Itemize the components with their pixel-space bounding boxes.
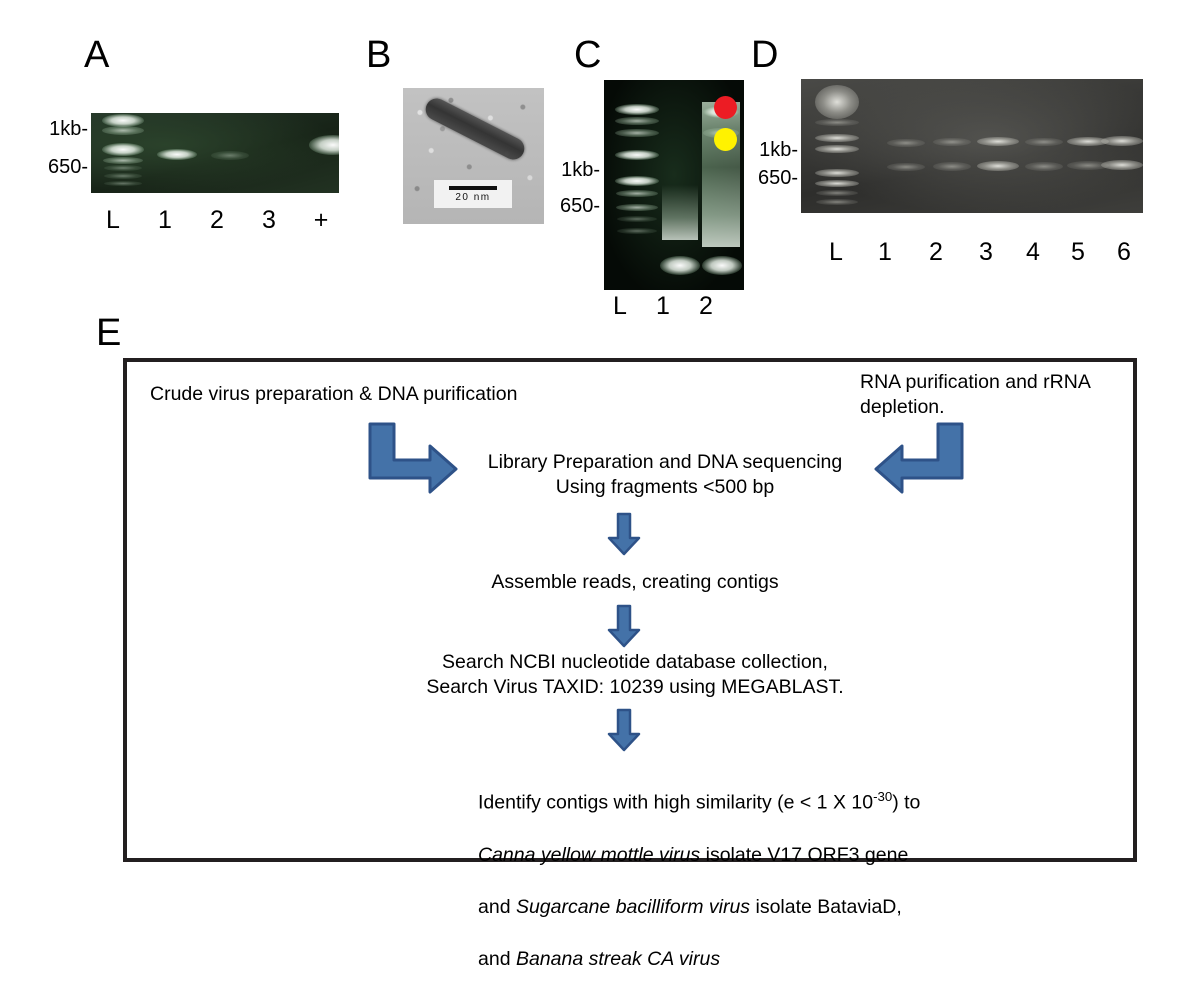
down-arrow-2	[607, 604, 641, 648]
panel-d-marker-650: 650-	[740, 168, 798, 188]
panel-b-micrograph: 20 nm	[403, 88, 544, 224]
curved-arrow-left	[364, 420, 460, 496]
flow-step-rna-purification: RNA purification and rRNA depletion.	[860, 370, 1110, 420]
gel-band	[977, 161, 1019, 171]
gel-band	[615, 176, 659, 186]
panel-c-lane-1: 1	[650, 294, 676, 319]
identify-line-1: Identify contigs with high similarity (e…	[478, 784, 1038, 816]
gel-band	[1025, 138, 1063, 146]
gel-band	[933, 162, 971, 171]
panel-a-lane-3: 3	[256, 208, 282, 233]
identify-line-4-head: and	[478, 948, 516, 970]
gel-band	[309, 135, 339, 155]
panel-d-lane-6: 6	[1111, 240, 1137, 265]
identify-line-2: Canna yellow mottle virus isolate V17 OR…	[478, 842, 1038, 868]
gel-band	[102, 126, 144, 135]
identify-line-1-tail: ) to	[892, 792, 920, 814]
gel-band	[615, 104, 659, 115]
panel-d-marker-1kb: 1kb-	[746, 140, 798, 160]
gel-smear	[662, 185, 698, 240]
panel-letter-a: A	[84, 36, 109, 74]
panel-d-gel-image	[801, 79, 1143, 213]
gel-band	[615, 129, 659, 137]
panel-c-lane-2: 2	[693, 294, 719, 319]
gel-band	[617, 216, 657, 222]
gel-band	[815, 119, 859, 126]
panel-d-lane-2: 2	[923, 240, 949, 265]
panel-c-marker-1kb: 1kb-	[548, 160, 600, 180]
panel-d-lane-1: 1	[872, 240, 898, 265]
panel-letter-d: D	[751, 36, 778, 74]
scale-bar-line	[449, 186, 497, 190]
panel-a-gel-image	[91, 113, 339, 193]
gel-band	[102, 143, 144, 156]
panel-letter-b: B	[366, 36, 391, 74]
gel-band	[157, 149, 197, 160]
gel-band	[104, 165, 142, 171]
virus-name-canna-yellow-mottle: Canna yellow mottle virus	[478, 844, 700, 866]
scale-bar-box: 20 nm	[434, 180, 512, 208]
panel-a-lane-plus: +	[308, 208, 334, 233]
gel-band	[615, 150, 659, 160]
gel-band	[616, 204, 658, 211]
gel-band	[815, 169, 859, 177]
gel-band	[816, 199, 858, 205]
gel-band	[660, 256, 700, 275]
scale-bar-label: 20 nm	[455, 192, 490, 203]
down-arrow-3	[607, 708, 641, 752]
curved-arrow-right	[872, 420, 968, 496]
identify-exponent: -30	[873, 789, 892, 804]
gel-band	[815, 134, 859, 142]
gel-band	[1101, 136, 1143, 146]
gel-band	[815, 145, 859, 153]
gel-band	[1025, 162, 1063, 171]
gel-band	[815, 180, 859, 187]
virus-particle	[422, 95, 528, 164]
gel-band	[702, 256, 742, 275]
panel-a-lane-1: 1	[152, 208, 178, 233]
panel-letter-c: C	[574, 36, 601, 74]
virus-name-sugarcane-bacilliform: Sugarcane bacilliform virus	[516, 896, 750, 918]
gel-band	[103, 157, 143, 164]
yellow-dot-marker	[714, 128, 737, 151]
panel-a-lane-2: 2	[204, 208, 230, 233]
flow-step-identify-contigs: Identify contigs with high similarity (e…	[478, 758, 1038, 998]
gel-band	[933, 138, 971, 146]
gel-band	[1067, 161, 1109, 170]
gel-band	[104, 173, 142, 179]
gel-band	[887, 139, 925, 147]
gel-smear	[702, 102, 740, 247]
panel-d-lane-L: L	[823, 240, 849, 265]
gel-band	[1067, 137, 1109, 146]
gel-band	[102, 114, 144, 127]
identify-line-2-tail: isolate V17 ORF3 gene	[700, 844, 908, 866]
identify-line-1-text: Identify contigs with high similarity (e…	[478, 792, 873, 814]
panel-c-marker-650: 650-	[542, 196, 600, 216]
panel-letter-e: E	[96, 314, 121, 352]
flow-step-assemble-reads: Assemble reads, creating contigs	[430, 570, 840, 595]
gel-band	[617, 228, 657, 234]
panel-c-lane-L: L	[607, 294, 633, 319]
panel-d-lane-4: 4	[1020, 240, 1046, 265]
down-arrow-1	[607, 512, 641, 556]
gel-band	[211, 151, 249, 160]
panel-a-marker-650: 650-	[30, 157, 88, 177]
flow-step-crude-virus-prep: Crude virus preparation & DNA purificati…	[150, 382, 620, 407]
gel-band	[816, 190, 858, 196]
identify-line-3: and Sugarcane bacilliform virus isolate …	[478, 894, 1038, 920]
panel-d-lane-5: 5	[1065, 240, 1091, 265]
gel-band	[887, 163, 925, 171]
gel-band	[815, 85, 859, 119]
identify-line-3-tail: isolate BataviaD,	[750, 896, 902, 918]
flow-step-search-ncbi: Search NCBI nucleotide database collecti…	[400, 650, 870, 700]
virus-name-banana-streak-ca: Banana streak CA virus	[516, 948, 720, 970]
gel-band	[977, 137, 1019, 146]
gel-band	[616, 190, 658, 197]
panel-a-marker-1kb: 1kb-	[36, 119, 88, 139]
gel-band	[615, 117, 659, 125]
gel-band	[104, 181, 142, 186]
red-dot-marker	[714, 96, 737, 119]
identify-line-3-head: and	[478, 896, 516, 918]
panel-d-lane-3: 3	[973, 240, 999, 265]
identify-line-4: and Banana streak CA virus	[478, 946, 1038, 972]
gel-band	[1101, 160, 1143, 170]
flow-step-library-prep: Library Preparation and DNA sequencing U…	[460, 450, 870, 500]
panel-a-lane-L: L	[100, 208, 126, 233]
